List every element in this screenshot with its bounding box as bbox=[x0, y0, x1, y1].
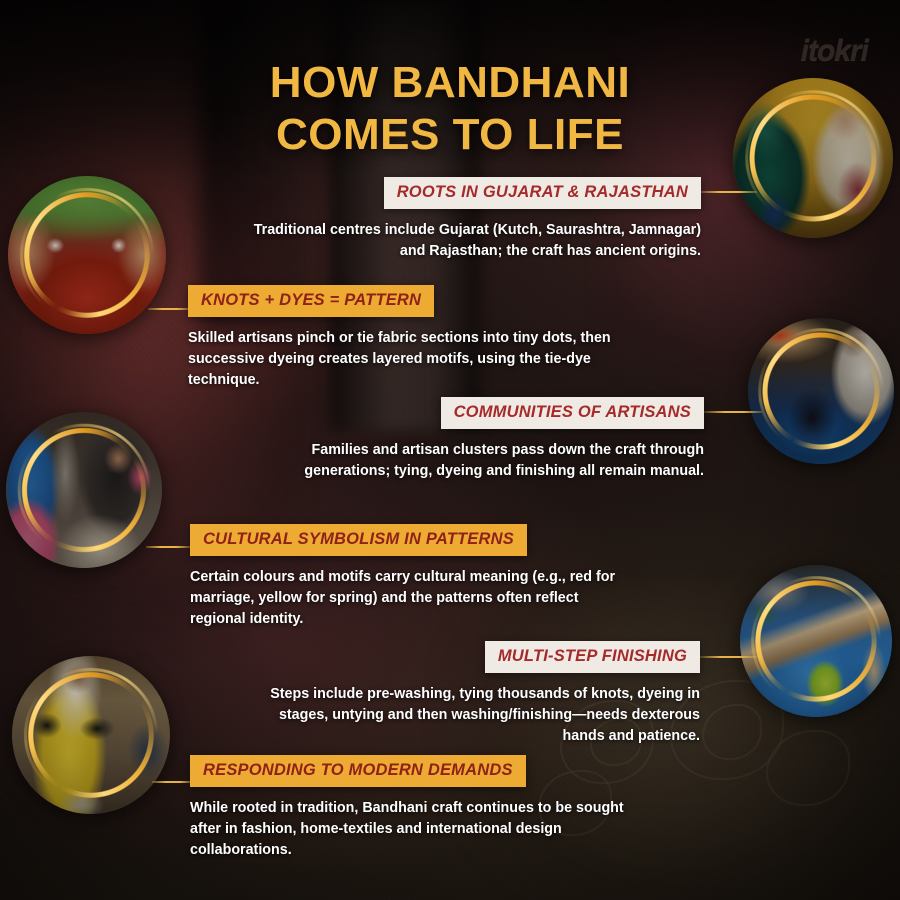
photo-ring-outer bbox=[725, 550, 900, 732]
connector-line-communities bbox=[700, 411, 762, 413]
photo-lifting-yellow-dyed-cloth bbox=[12, 656, 170, 814]
connector-line-roots bbox=[695, 191, 757, 193]
section-modern-demands: RESPONDING TO MODERN DEMANDS While roote… bbox=[190, 755, 652, 861]
photo-ring-outer bbox=[0, 641, 185, 829]
section-tag-knots-dyes[interactable]: KNOTS + DYES = PATTERN bbox=[188, 285, 434, 317]
section-body-roots: Traditional centres include Gujarat (Kut… bbox=[236, 220, 701, 262]
connector-line-cultural bbox=[146, 546, 196, 548]
section-communities: COMMUNITIES OF ARTISANS Families and art… bbox=[236, 397, 704, 482]
section-body-knots-dyes: Skilled artisans pinch or tie fabric sec… bbox=[188, 328, 620, 391]
photo-dyer-at-blue-vat bbox=[748, 318, 894, 464]
section-knots-dyes: KNOTS + DYES = PATTERN Skilled artisans … bbox=[188, 285, 620, 391]
photo-hands-tying-red-fabric bbox=[8, 176, 166, 334]
section-body-communities: Families and artisan clusters pass down … bbox=[236, 440, 704, 482]
section-tag-communities[interactable]: COMMUNITIES OF ARTISANS bbox=[441, 397, 704, 429]
section-body-multi-step-finishing: Steps include pre-washing, tying thousan… bbox=[262, 684, 700, 747]
connector-line-finishing bbox=[697, 656, 757, 658]
photo-ring-outer bbox=[733, 303, 900, 479]
title-line-1: HOW BANDHANI bbox=[270, 58, 630, 107]
section-body-cultural-symbolism: Certain colours and motifs carry cultura… bbox=[190, 567, 630, 630]
infographic-poster: HOW BANDHANI COMES TO LIFE itokri bbox=[0, 0, 900, 900]
photo-women-knotting-cloth bbox=[6, 412, 162, 568]
photo-women-tying-bandhani bbox=[733, 78, 893, 238]
section-roots: ROOTS IN GUJARAT & RAJASTHAN Traditional… bbox=[236, 177, 701, 262]
section-tag-roots[interactable]: ROOTS IN GUJARAT & RAJASTHAN bbox=[384, 177, 701, 209]
photo-ring-outer bbox=[718, 63, 900, 253]
section-tag-modern-demands[interactable]: RESPONDING TO MODERN DEMANDS bbox=[190, 755, 526, 787]
photo-ring-outer bbox=[0, 161, 181, 349]
section-cultural-symbolism: CULTURAL SYMBOLISM IN PATTERNS Certain c… bbox=[190, 524, 630, 630]
section-body-modern-demands: While rooted in tradition, Bandhani craf… bbox=[190, 798, 652, 861]
section-tag-multi-step-finishing[interactable]: MULTI-STEP FINISHING bbox=[485, 641, 700, 673]
photo-indigo-dye-vat bbox=[740, 565, 892, 717]
section-tag-cultural-symbolism[interactable]: CULTURAL SYMBOLISM IN PATTERNS bbox=[190, 524, 527, 556]
section-multi-step-finishing: MULTI-STEP FINISHING Steps include pre-w… bbox=[262, 641, 700, 747]
